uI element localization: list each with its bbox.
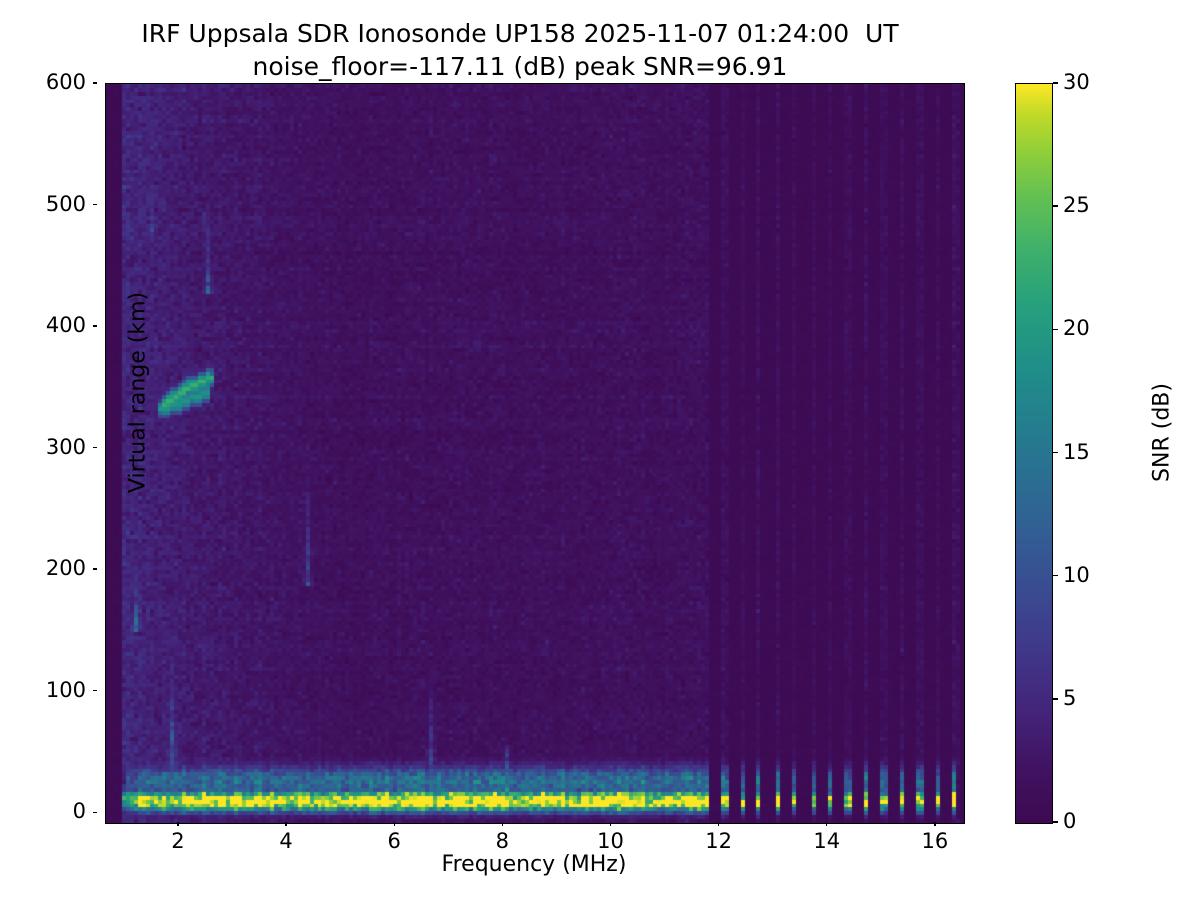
y-axis-label: Virtual range (km) — [126, 243, 151, 543]
colorbar-tick-label: 10 — [1063, 565, 1090, 586]
colorbar-tick-mark — [1053, 698, 1058, 699]
colorbar-label: SNR (dB) — [1150, 283, 1175, 583]
figure-title: IRF Uppsala SDR Ionosonde UP158 2025-11-… — [0, 18, 1040, 83]
colorbar-tick-mark — [1053, 575, 1058, 576]
colorbar-tick-label: 0 — [1063, 811, 1076, 832]
x-tick-mark — [285, 822, 286, 826]
colorbar-tick-label: 15 — [1063, 442, 1090, 463]
x-tick-mark — [394, 822, 395, 826]
colorbar-tick-mark — [1053, 82, 1058, 83]
colorbar-gradient — [1016, 84, 1052, 823]
x-axis-label: Frequency (MHz) — [105, 852, 963, 877]
ionogram-figure: IRF Uppsala SDR Ionosonde UP158 2025-11-… — [0, 0, 1200, 900]
colorbar-tick-label: 25 — [1063, 195, 1090, 216]
y-tick-label: 200 — [46, 558, 86, 579]
x-tick-mark — [502, 822, 503, 826]
ionogram-heatmap-canvas — [106, 84, 964, 823]
y-tick-mark — [93, 812, 97, 813]
x-tick-label: 16 — [922, 831, 949, 852]
x-tick-label: 8 — [496, 831, 509, 852]
y-axis-ticks: 0100200300400500600 — [0, 83, 98, 822]
x-tick-mark — [718, 822, 719, 826]
y-tick-mark — [93, 82, 97, 83]
x-tick-label: 12 — [705, 831, 732, 852]
x-tick-label: 2 — [171, 831, 184, 852]
y-tick-mark — [93, 447, 97, 448]
y-tick-label: 600 — [46, 72, 86, 93]
colorbar-tick-label: 30 — [1063, 72, 1090, 93]
x-tick-label: 6 — [388, 831, 401, 852]
y-tick-label: 300 — [46, 437, 86, 458]
y-tick-mark — [93, 568, 97, 569]
x-tick-mark — [177, 822, 178, 826]
y-tick-label: 500 — [46, 194, 86, 215]
colorbar-tick-label: 5 — [1063, 688, 1076, 709]
y-tick-mark — [93, 325, 97, 326]
colorbar — [1015, 83, 1053, 824]
y-tick-label: 400 — [46, 315, 86, 336]
colorbar-tick-mark — [1053, 329, 1058, 330]
y-tick-mark — [93, 690, 97, 691]
title-line-2: noise_floor=-117.11 (dB) peak SNR=96.91 — [0, 51, 1040, 84]
colorbar-tick-mark — [1053, 205, 1058, 206]
colorbar-tick-label: 20 — [1063, 318, 1090, 339]
colorbar-tick-mark — [1053, 821, 1058, 822]
x-tick-mark — [610, 822, 611, 826]
y-tick-mark — [93, 204, 97, 205]
y-tick-label: 100 — [46, 680, 86, 701]
x-tick-label: 4 — [279, 831, 292, 852]
title-line-1: IRF Uppsala SDR Ionosonde UP158 2025-11-… — [0, 18, 1040, 51]
x-tick-label: 10 — [597, 831, 624, 852]
colorbar-tick-mark — [1053, 452, 1058, 453]
ionogram-plot-area — [105, 83, 965, 824]
x-tick-mark — [934, 822, 935, 826]
x-tick-label: 14 — [813, 831, 840, 852]
x-tick-mark — [826, 822, 827, 826]
y-tick-label: 0 — [73, 801, 86, 822]
